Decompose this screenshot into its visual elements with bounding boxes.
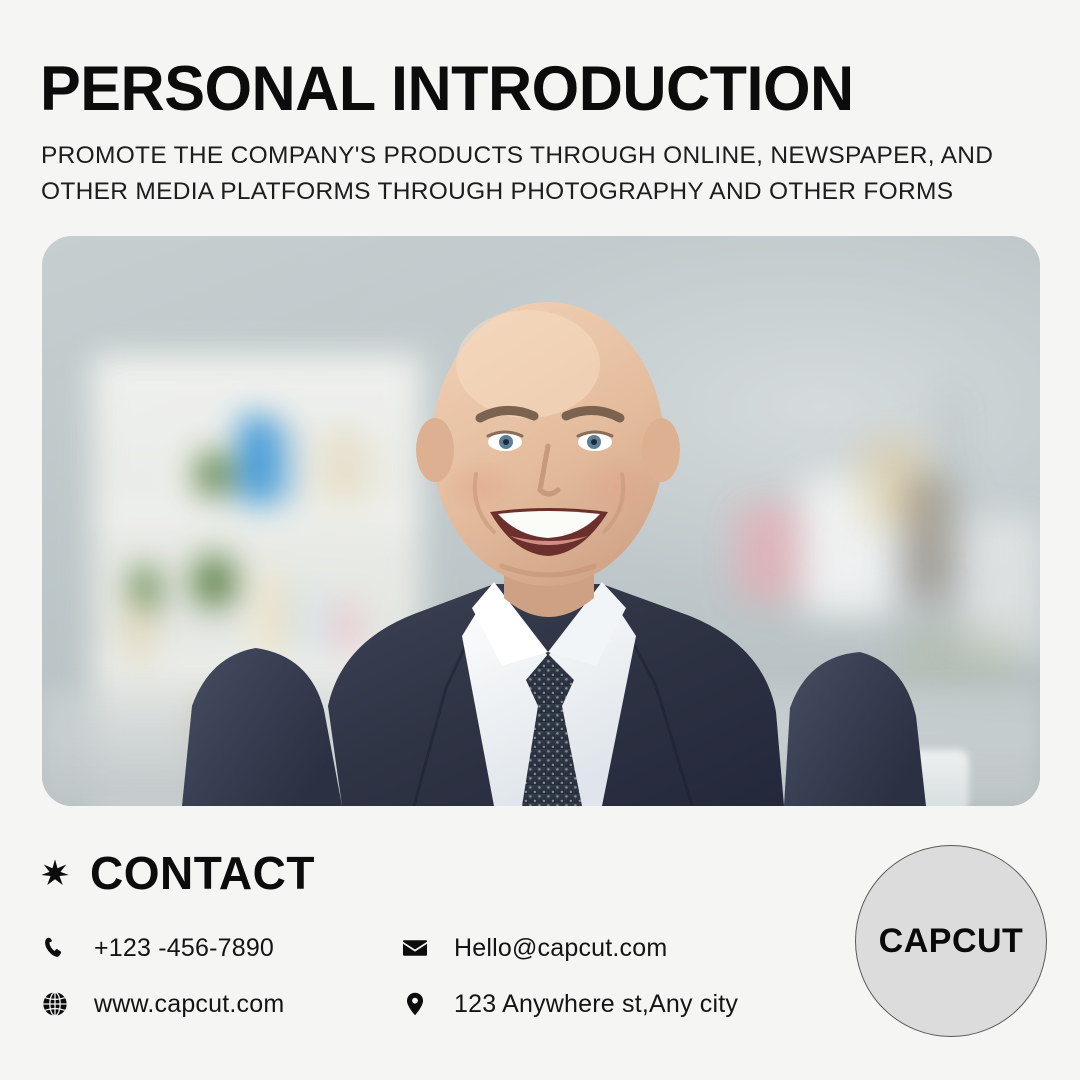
globe-icon: [40, 989, 70, 1019]
contact-item-phone[interactable]: +123 -456-7890: [40, 933, 388, 963]
subtitle-line-2: OTHER MEDIA PLATFORMS THROUGH PHOTOGRAPH…: [41, 174, 1040, 210]
businessman-figure: [42, 236, 1040, 806]
portrait-photo: [42, 236, 1040, 806]
contact-heading: CONTACT: [40, 849, 315, 897]
capcut-logo-text: CAPCUT: [879, 922, 1024, 961]
contact-item-email[interactable]: Hello@capcut.com: [388, 933, 820, 963]
contact-title-text: CONTACT: [90, 849, 315, 897]
phone-icon: [40, 933, 70, 963]
contact-phone-text: +123 -456-7890: [94, 934, 274, 963]
contact-item-website[interactable]: www.capcut.com: [40, 989, 388, 1019]
capcut-logo-badge[interactable]: CAPCUT: [855, 845, 1047, 1037]
subtitle-line-1: PROMOTE THE COMPANY'S PRODUCTS THROUGH O…: [41, 138, 1040, 174]
page-title: PERSONAL INTRODUCTION: [40, 56, 1010, 122]
contact-website-text: www.capcut.com: [94, 990, 284, 1019]
page-subtitle: PROMOTE THE COMPANY'S PRODUCTS THROUGH O…: [41, 138, 1040, 210]
contact-email-text: Hello@capcut.com: [454, 934, 667, 963]
email-icon: [400, 933, 430, 963]
contact-item-address[interactable]: 123 Anywhere st,Any city: [388, 989, 820, 1019]
sparkle-star-icon: [40, 858, 70, 888]
header-block: PERSONAL INTRODUCTION PROMOTE THE COMPAN…: [40, 56, 1040, 210]
contact-details: +123 -456-7890 Hello@capcut.com: [40, 920, 820, 1032]
location-pin-icon: [400, 989, 430, 1019]
contact-address-text: 123 Anywhere st,Any city: [454, 990, 738, 1019]
poster-canvas: PERSONAL INTRODUCTION PROMOTE THE COMPAN…: [0, 0, 1080, 1080]
